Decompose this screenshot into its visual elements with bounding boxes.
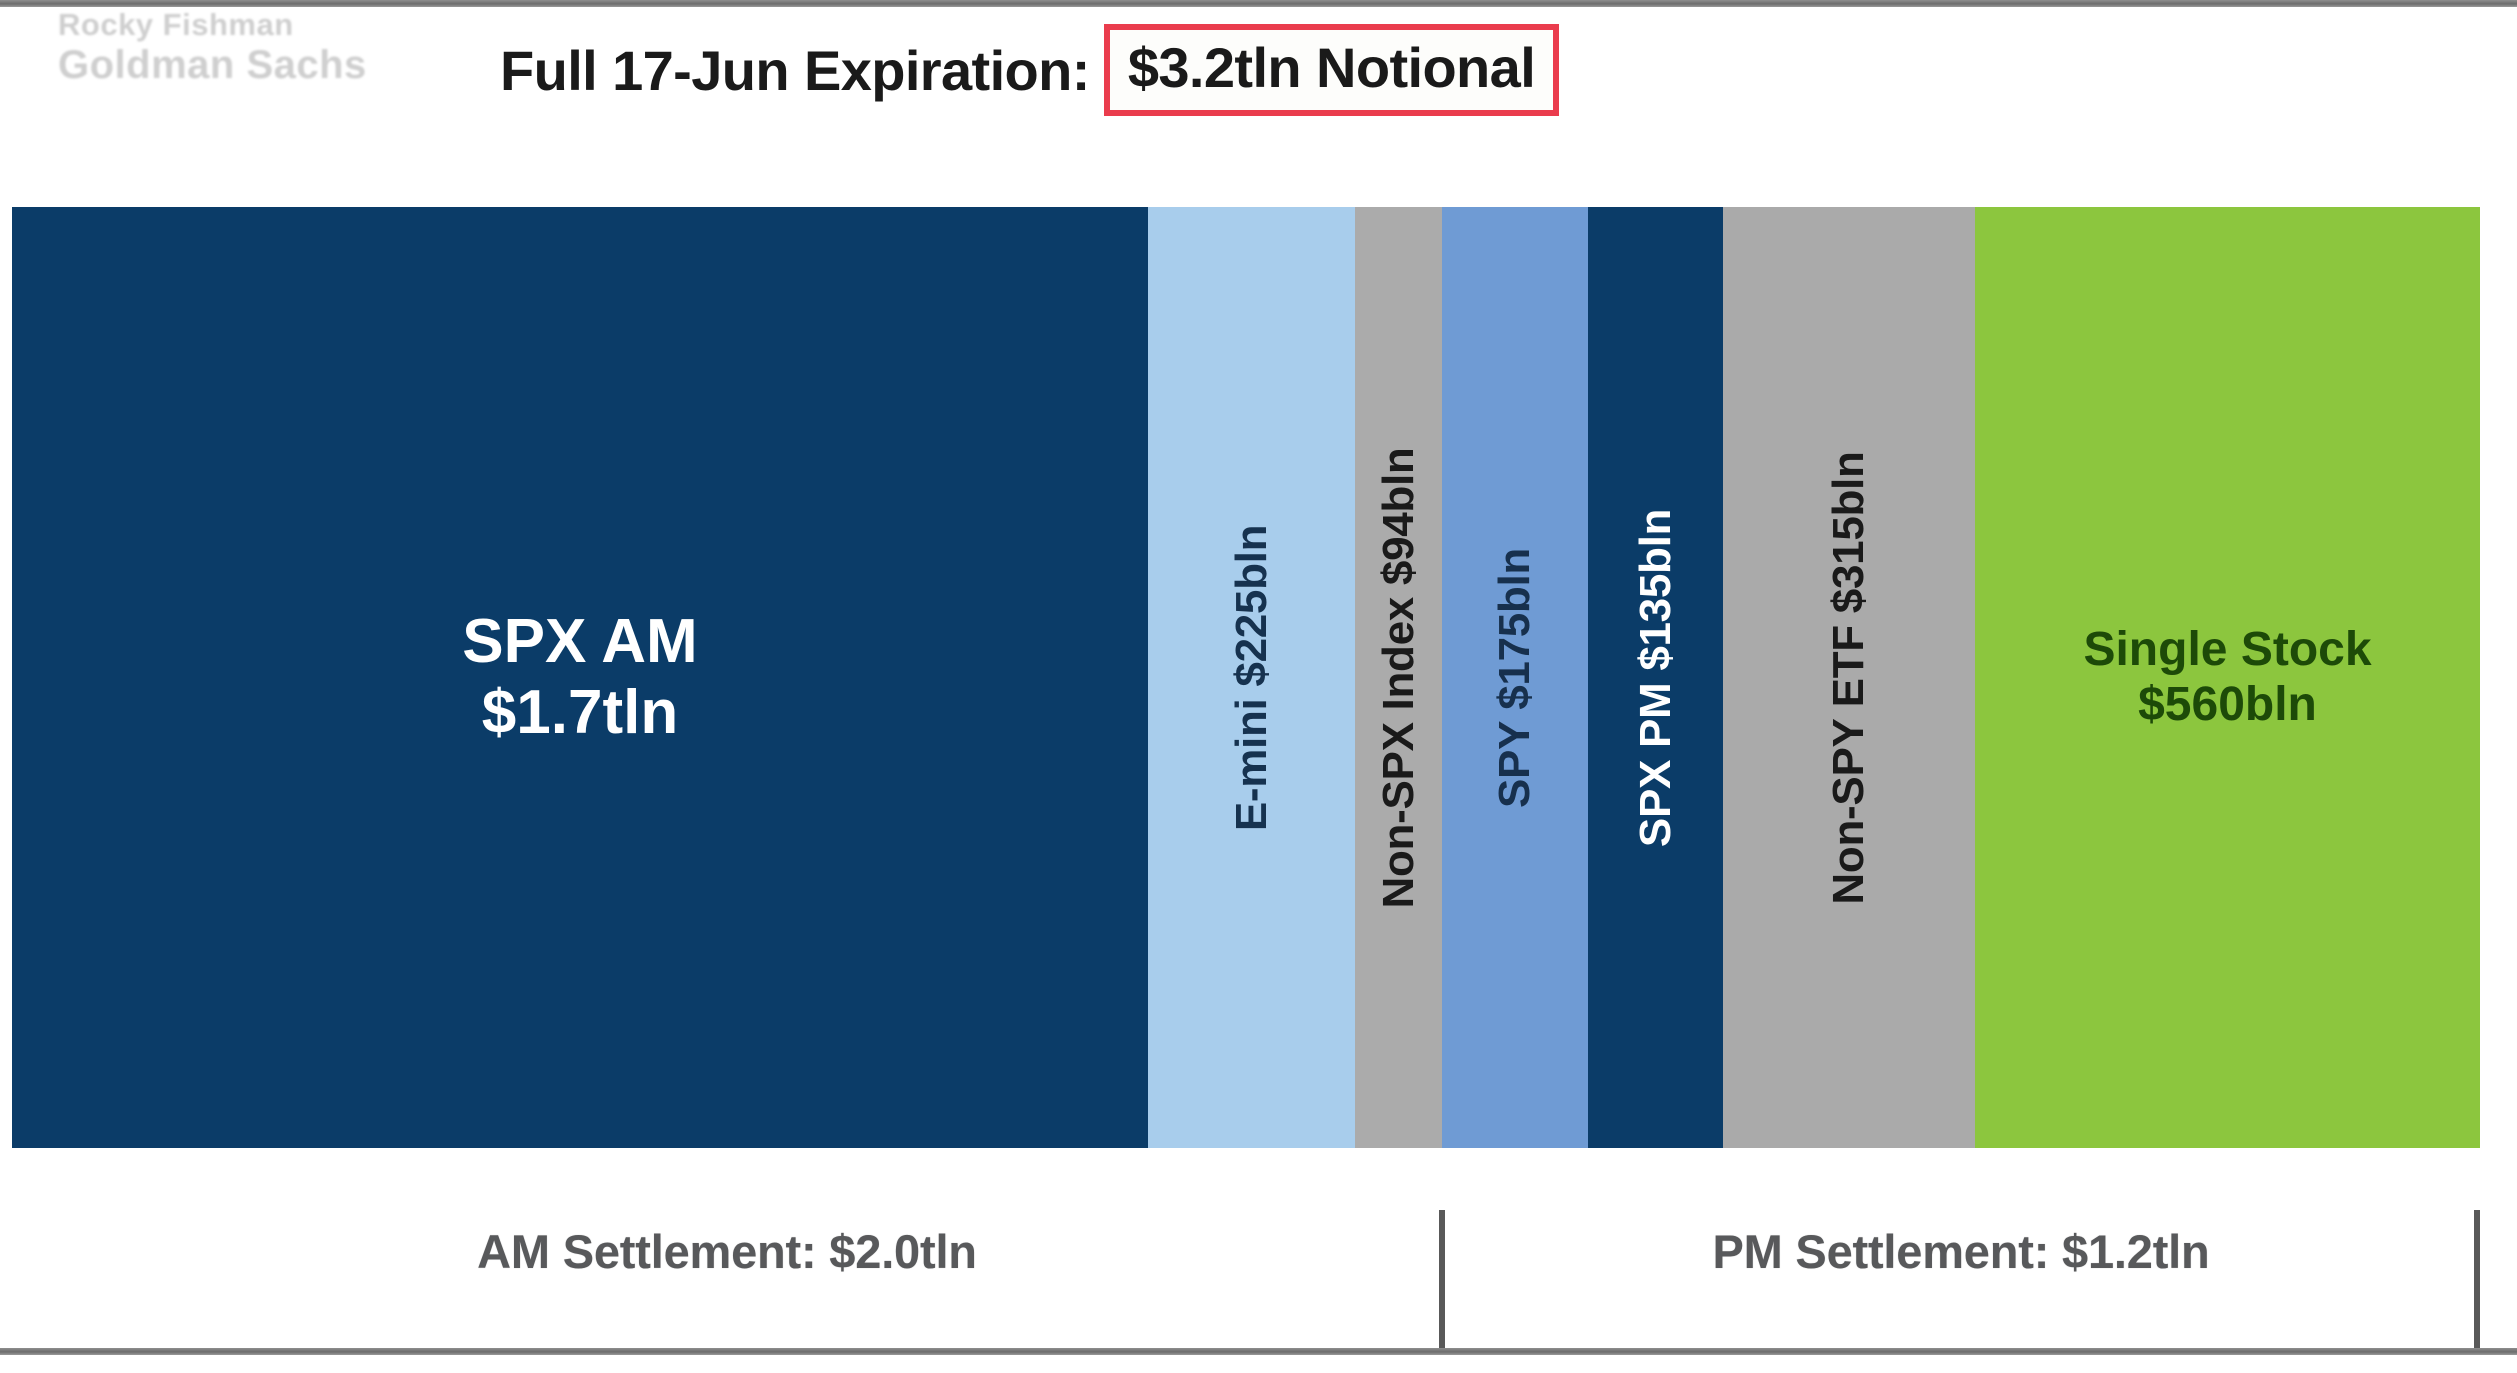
chart-title-row: Full 17-Jun Expiration: $3.2tln Notional bbox=[0, 10, 2517, 130]
segment-label: Non-SPX Index $94bln bbox=[1374, 447, 1424, 908]
segment-label: E-mini $225bln bbox=[1227, 524, 1277, 830]
chart-slide: Rocky Fishman Goldman Sachs Full 17-Jun … bbox=[0, 0, 2517, 1373]
settlement-group-pm: PM Settlement: $1.2tln bbox=[1442, 1155, 2480, 1348]
bar-segment-single-stock: Single Stock $560bln bbox=[1975, 207, 2480, 1148]
bar-segment-non-spx-index: Non-SPX Index $94bln bbox=[1355, 207, 1442, 1148]
bar-segment-e-mini: E-mini $225bln bbox=[1148, 207, 1355, 1148]
top-rule bbox=[0, 0, 2517, 7]
stacked-bar: SPX AM $1.7tlnE-mini $225blnNon-SPX Inde… bbox=[12, 207, 2480, 1148]
bottom-rule bbox=[0, 1348, 2517, 1355]
settlement-label: AM Settlement: $2.0tln bbox=[477, 1224, 977, 1279]
segment-label: Single Stock $560bln bbox=[2083, 623, 2371, 732]
notional-badge: $3.2tln Notional bbox=[1104, 24, 1559, 116]
bar-segment-spy: SPY $175bln bbox=[1442, 207, 1588, 1148]
segment-label: SPY $175bln bbox=[1490, 547, 1540, 807]
settlement-footer: AM Settlement: $2.0tlnPM Settlement: $1.… bbox=[12, 1155, 2480, 1348]
chart-title: Full 17-Jun Expiration: bbox=[500, 38, 1090, 103]
segment-label: Non-SPY ETF $315bln bbox=[1824, 451, 1874, 904]
bar-segment-spx-am: SPX AM $1.7tln bbox=[12, 207, 1148, 1148]
settlement-group-am: AM Settlement: $2.0tln bbox=[12, 1155, 1442, 1348]
segment-label: SPX PM $135bln bbox=[1631, 508, 1681, 846]
settlement-label: PM Settlement: $1.2tln bbox=[1712, 1224, 2209, 1279]
bar-segment-spx-pm: SPX PM $135bln bbox=[1588, 207, 1723, 1148]
settlement-divider-tick bbox=[1439, 1210, 1445, 1348]
segment-label: SPX AM $1.7tln bbox=[462, 607, 697, 748]
settlement-end-tick bbox=[2474, 1210, 2480, 1348]
bar-segment-non-spy-etf: Non-SPY ETF $315bln bbox=[1723, 207, 1975, 1148]
